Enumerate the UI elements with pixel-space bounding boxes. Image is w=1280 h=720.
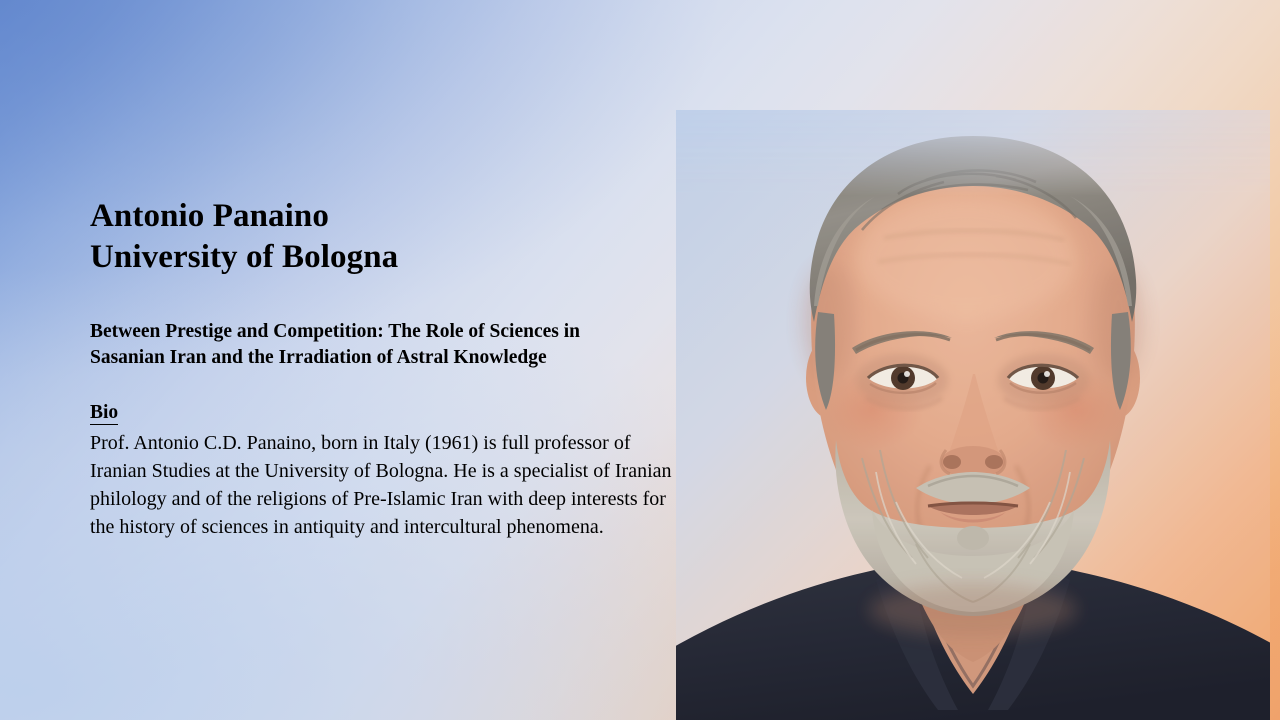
bio-heading: Bio [90, 401, 118, 425]
talk-title-line-1: Between Prestige and Competition: The Ro… [90, 319, 705, 345]
speaker-text-block: Antonio Panaino University of Bologna Be… [90, 196, 710, 541]
bio-paragraph: Prof. Antonio C.D. Panaino, born in Ital… [90, 429, 690, 541]
speaker-slide: Antonio Panaino University of Bologna Be… [0, 0, 1280, 720]
speaker-name: Antonio Panaino [90, 196, 710, 237]
speaker-portrait-photo [676, 110, 1270, 720]
portrait-illustration [676, 110, 1270, 720]
talk-title: Between Prestige and Competition: The Ro… [90, 319, 705, 371]
talk-title-line-2: Sasanian Iran and the Irradiation of Ast… [90, 345, 705, 371]
speaker-affiliation: University of Bologna [90, 237, 710, 278]
